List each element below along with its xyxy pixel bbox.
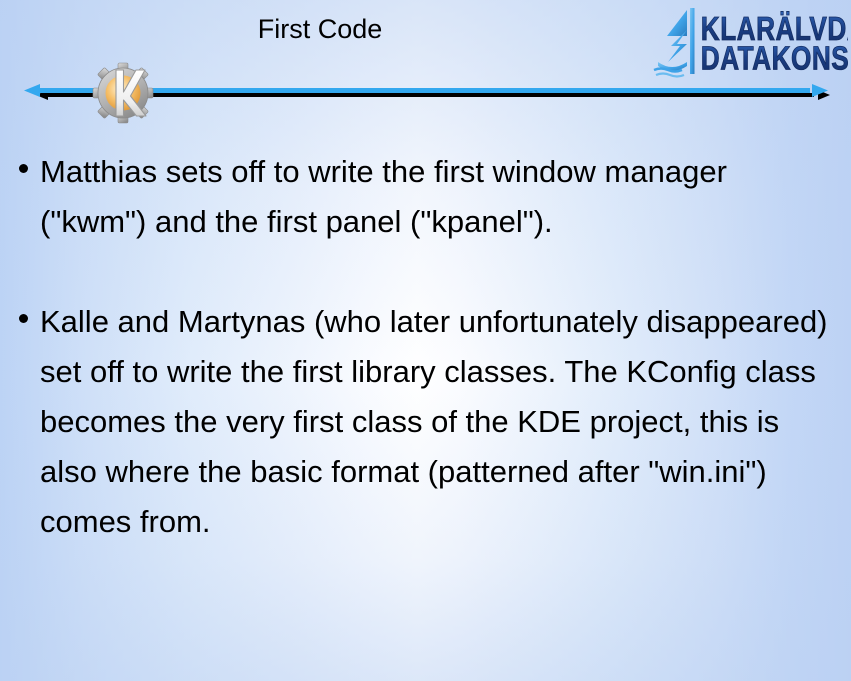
bullet-text: Kalle and Martynas (who later unfortunat…: [40, 297, 830, 547]
left-arrow-icon: [24, 84, 40, 97]
slide-canvas: First Code: [0, 0, 851, 681]
sail-boat-icon: [654, 8, 695, 77]
list-item: Matthias sets off to write the first win…: [14, 147, 839, 247]
kdab-logo-line2: DATAKONSULT AB: [701, 41, 848, 78]
bullet-dot-icon: [19, 314, 28, 323]
slide-body: Matthias sets off to write the first win…: [14, 147, 839, 547]
kde-gear-logo: [92, 62, 154, 124]
bullet-text: Matthias sets off to write the first win…: [40, 147, 740, 247]
page-title: First Code: [0, 12, 640, 46]
bullet-dot-icon: [19, 164, 28, 173]
kdab-logo: KLARÄLVDALENS DATAKONSULT AB: [646, 6, 848, 80]
list-item: Kalle and Martynas (who later unfortunat…: [14, 297, 839, 547]
